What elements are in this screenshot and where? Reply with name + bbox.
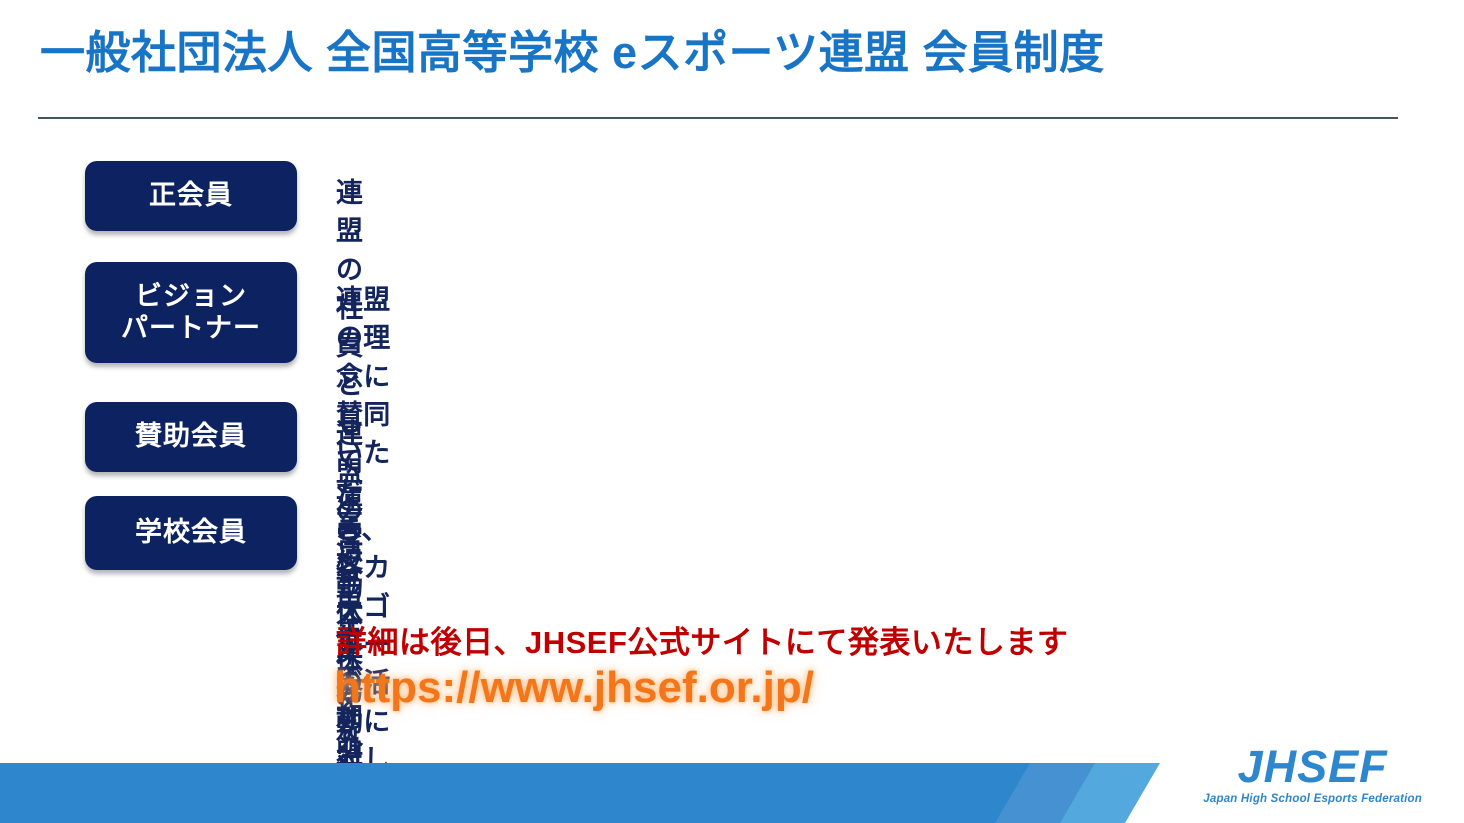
announcement-text: 詳細は後日、JHSEF公式サイトにて発表いたします: [336, 617, 1068, 662]
membership-badge-supporting[interactable]: 賛助会員: [85, 402, 297, 472]
membership-badge-vision-partner[interactable]: ビジョン パートナー: [85, 262, 297, 363]
membership-badge-school[interactable]: 学校会員: [85, 496, 297, 570]
slide-canvas: 一般社団法人 全国高等学校 eスポーツ連盟 会員制度 正会員 連盟の社員として運…: [0, 0, 1464, 823]
jhsef-logo-tagline: Japan High School Esports Federation: [1203, 794, 1422, 806]
official-site-url[interactable]: https://www.jhsef.or.jp/: [334, 663, 814, 713]
jhsef-logo: JHSEF Japan High School Esports Federati…: [1203, 744, 1422, 806]
membership-badge-regular[interactable]: 正会員: [85, 161, 297, 231]
jhsef-logo-mark: JHSEF: [1203, 744, 1422, 789]
